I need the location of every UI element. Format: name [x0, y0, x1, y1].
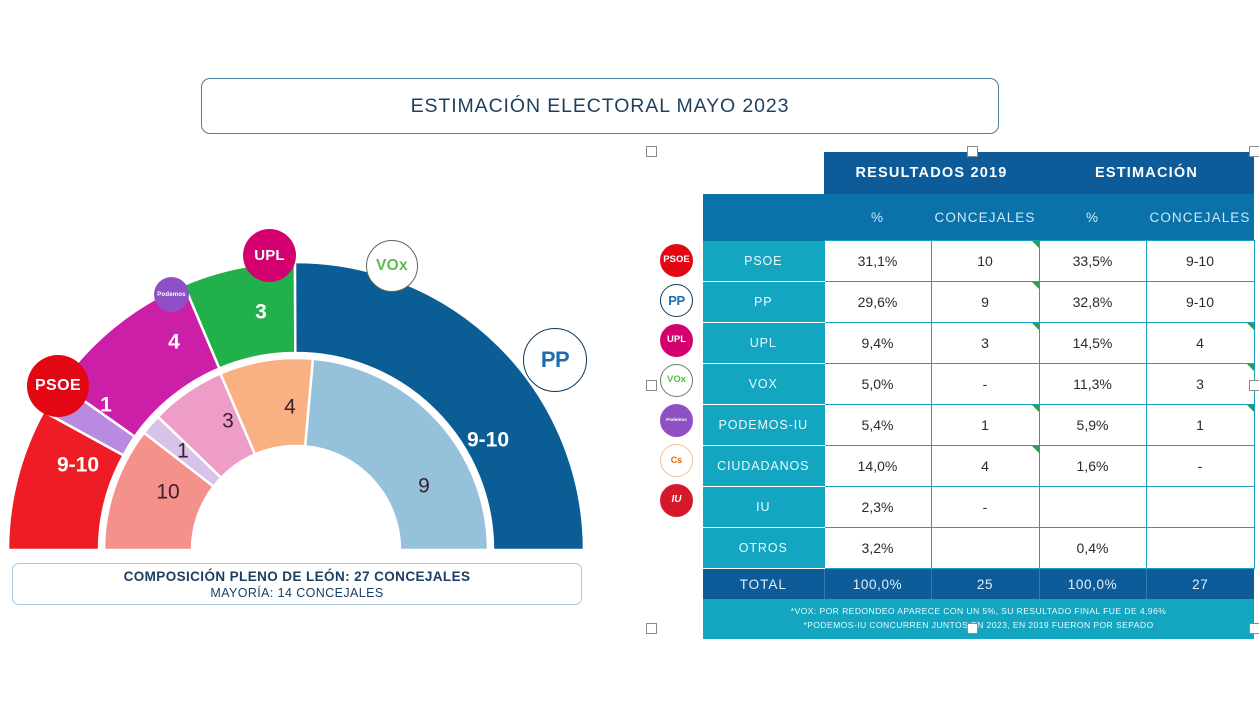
arc-label-outer-upl: 4	[168, 331, 180, 354]
logo-cell-ciudadanos: Cs	[654, 440, 699, 480]
table-footnote-row: *VOX: POR REDONDEO APARECE CON UN 5%, SU…	[703, 599, 1254, 639]
arc-label-inner-pp: 9	[418, 475, 430, 498]
ciudadanos-icon: Cs	[660, 444, 693, 477]
hemicycle-svg: 9-10 1 4 3 9-10 10 1 3 4 9	[0, 215, 610, 575]
vox-icon-label: VOx	[667, 375, 686, 385]
table-row: CIUDADANOS 14,0% 4 1,6% -	[703, 446, 1254, 487]
selection-handle-middle-left[interactable]	[646, 380, 657, 391]
cell-vox-pct-2019: 5,0%	[824, 364, 931, 405]
row-party-upl: UPL	[703, 323, 824, 364]
results-table: RESULTADOS 2019 ESTIMACIÓN % CONCEJALES …	[703, 152, 1255, 639]
cell-psoe-pct-2019: 31,1%	[824, 241, 931, 282]
logo-cell-pp: PP	[654, 280, 699, 320]
cell-iu-pct-est	[1039, 487, 1146, 528]
footnote-vox: *VOX: POR REDONDEO APARECE CON UN 5%, SU…	[707, 604, 1250, 618]
cell-vox-seats-est: 3	[1146, 364, 1254, 405]
cell-vox-pct-est: 11,3%	[1039, 364, 1146, 405]
table-total-row: TOTAL 100,0% 25 100,0% 27	[703, 569, 1254, 600]
results-table-object[interactable]: PSOE PP UPL VOx Podemos Cs	[654, 152, 1254, 627]
arc-label-inner-ciudadanos: 4	[284, 396, 296, 419]
table-row: PODEMOS-IU 5,4% 1 5,9% 1	[703, 405, 1254, 446]
arc-label-outer-pp: 9-10	[467, 429, 509, 452]
subheader-party-blank	[703, 194, 824, 241]
logo-cell-podemos: Podemos	[654, 400, 699, 440]
row-party-podemos-iu: PODEMOS-IU	[703, 405, 824, 446]
pp-icon-label: PP	[668, 294, 685, 307]
table-row: OTROS 3,2% 0,4%	[703, 528, 1254, 569]
selection-handle-bottom-right[interactable]	[1249, 623, 1259, 634]
row-party-otros: OTROS	[703, 528, 824, 569]
cell-iu-seats-est	[1146, 487, 1254, 528]
podemos-icon: Podemos	[660, 404, 693, 437]
arc-label-outer-podemos: 1	[100, 394, 112, 417]
cell-psoe-seats-est: 9-10	[1146, 241, 1254, 282]
row-party-ciudadanos: CIUDADANOS	[703, 446, 824, 487]
cell-podemos-pct-2019: 5,4%	[824, 405, 931, 446]
cell-psoe-seats-2019: 10	[931, 241, 1039, 282]
hemicycle-caption: COMPOSICIÓN PLENO DE LEÓN: 27 CONCEJALES…	[12, 563, 582, 605]
podemos-logo-icon: Podemos	[154, 277, 189, 312]
selection-handle-top-left[interactable]	[646, 146, 657, 157]
arc-label-inner-psoe: 10	[156, 481, 179, 504]
row-party-pp: PP	[703, 282, 824, 323]
selection-handle-middle-right[interactable]	[1249, 380, 1259, 391]
cell-ciudadanos-pct-2019: 14,0%	[824, 446, 931, 487]
footnote-podemos-iu: *PODEMOS-IU CONCURREN JUNTOS EN 2023, EN…	[707, 618, 1250, 632]
podemos-icon-label: Podemos	[666, 418, 687, 423]
logo-cell-upl: UPL	[654, 320, 699, 360]
arc-label-outer-vox: 3	[255, 301, 267, 324]
row-party-psoe: PSOE	[703, 241, 824, 282]
slide-canvas: ESTIMACIÓN ELECTORAL MAYO 2023 9-10 1	[0, 0, 1259, 708]
vox-icon: VOx	[660, 364, 693, 397]
upl-icon-label: UPL	[667, 335, 686, 345]
pp-logo-icon: PP	[523, 328, 587, 392]
page-title: ESTIMACIÓN ELECTORAL MAYO 2023	[411, 95, 790, 118]
total-pct-est: 100,0%	[1039, 569, 1146, 600]
table-subheader-row: % CONCEJALES % CONCEJALES	[703, 194, 1254, 241]
iu-icon: IU	[660, 484, 693, 517]
cell-otros-seats-2019	[931, 528, 1039, 569]
slide-title-box: ESTIMACIÓN ELECTORAL MAYO 2023	[201, 78, 999, 134]
cell-upl-pct-2019: 9,4%	[824, 323, 931, 364]
total-label: TOTAL	[703, 569, 824, 600]
cell-otros-seats-est	[1146, 528, 1254, 569]
table-row: PSOE 31,1% 10 33,5% 9-10	[703, 241, 1254, 282]
logo-cell-otros	[654, 520, 699, 560]
cell-ciudadanos-pct-est: 1,6%	[1039, 446, 1146, 487]
psoe-icon: PSOE	[660, 244, 693, 277]
party-logo-column: PSOE PP UPL VOx Podemos Cs	[654, 240, 699, 560]
cell-pp-pct-est: 32,8%	[1039, 282, 1146, 323]
upl-logo-label: UPL	[254, 248, 285, 263]
podemos-logo-label: Podemos	[157, 292, 185, 298]
cell-podemos-seats-est: 1	[1146, 405, 1254, 446]
logo-cell-psoe: PSOE	[654, 240, 699, 280]
selection-handle-bottom-left[interactable]	[646, 623, 657, 634]
selection-handle-top-center[interactable]	[967, 146, 978, 157]
table-row: VOX 5,0% - 11,3% 3	[703, 364, 1254, 405]
subheader-seats-est: CONCEJALES	[1146, 194, 1254, 241]
iu-icon-label: IU	[672, 495, 682, 505]
vox-logo-icon: VOx	[366, 240, 418, 292]
total-pct-2019: 100,0%	[824, 569, 931, 600]
selection-handle-top-right[interactable]	[1249, 146, 1259, 157]
cell-ciudadanos-seats-2019: 4	[931, 446, 1039, 487]
upl-logo-icon: UPL	[243, 229, 296, 282]
pp-icon: PP	[660, 284, 693, 317]
cell-pp-seats-est: 9-10	[1146, 282, 1254, 323]
header-estimacion: ESTIMACIÓN	[1039, 152, 1254, 194]
table-row: UPL 9,4% 3 14,5% 4	[703, 323, 1254, 364]
pp-logo-label: PP	[541, 349, 569, 371]
logo-cell-iu: IU	[654, 480, 699, 520]
cell-upl-seats-2019: 3	[931, 323, 1039, 364]
cell-pp-seats-2019: 9	[931, 282, 1039, 323]
cell-pp-pct-2019: 29,6%	[824, 282, 931, 323]
header-corner-blank	[703, 152, 824, 194]
logo-cell-vox: VOx	[654, 360, 699, 400]
caption-majority: MAYORÍA: 14 CONCEJALES	[210, 586, 383, 600]
arc-label-inner-podemos: 3	[222, 410, 234, 433]
table-row: IU 2,3% -	[703, 487, 1254, 528]
total-seats-2019: 25	[931, 569, 1039, 600]
cell-ciudadanos-seats-est: -	[1146, 446, 1254, 487]
cell-upl-pct-est: 14,5%	[1039, 323, 1146, 364]
upl-icon: UPL	[660, 324, 693, 357]
header-resultados-2019: RESULTADOS 2019	[824, 152, 1039, 194]
vox-logo-label: VOx	[376, 258, 408, 274]
psoe-logo-icon: PSOE	[27, 355, 89, 417]
cell-iu-seats-2019: -	[931, 487, 1039, 528]
cell-podemos-pct-est: 5,9%	[1039, 405, 1146, 446]
subheader-pct-est: %	[1039, 194, 1146, 241]
selection-handle-bottom-center[interactable]	[967, 623, 978, 634]
arc-label-inner-iu: 1	[177, 440, 189, 463]
row-party-iu: IU	[703, 487, 824, 528]
arc-label-outer-psoe: 9-10	[57, 454, 99, 477]
psoe-icon-label: PSOE	[663, 255, 689, 265]
cell-psoe-pct-est: 33,5%	[1039, 241, 1146, 282]
ciudadanos-icon-label: Cs	[671, 456, 683, 465]
cell-upl-seats-est: 4	[1146, 323, 1254, 364]
subheader-pct-2019: %	[824, 194, 931, 241]
subheader-seats-2019: CONCEJALES	[931, 194, 1039, 241]
cell-podemos-seats-2019: 1	[931, 405, 1039, 446]
cell-otros-pct-2019: 3,2%	[824, 528, 931, 569]
table-row: PP 29,6% 9 32,8% 9-10	[703, 282, 1254, 323]
cell-iu-pct-2019: 2,3%	[824, 487, 931, 528]
footnotes-cell: *VOX: POR REDONDEO APARECE CON UN 5%, SU…	[703, 599, 1254, 639]
row-party-vox: VOX	[703, 364, 824, 405]
hemicycle-chart: 9-10 1 4 3 9-10 10 1 3 4 9	[0, 215, 610, 575]
cell-otros-pct-est: 0,4%	[1039, 528, 1146, 569]
total-seats-est: 27	[1146, 569, 1254, 600]
cell-vox-seats-2019: -	[931, 364, 1039, 405]
caption-composition: COMPOSICIÓN PLENO DE LEÓN: 27 CONCEJALES	[124, 569, 471, 584]
table-group-header-row: RESULTADOS 2019 ESTIMACIÓN	[703, 152, 1254, 194]
psoe-logo-label: PSOE	[35, 378, 81, 394]
